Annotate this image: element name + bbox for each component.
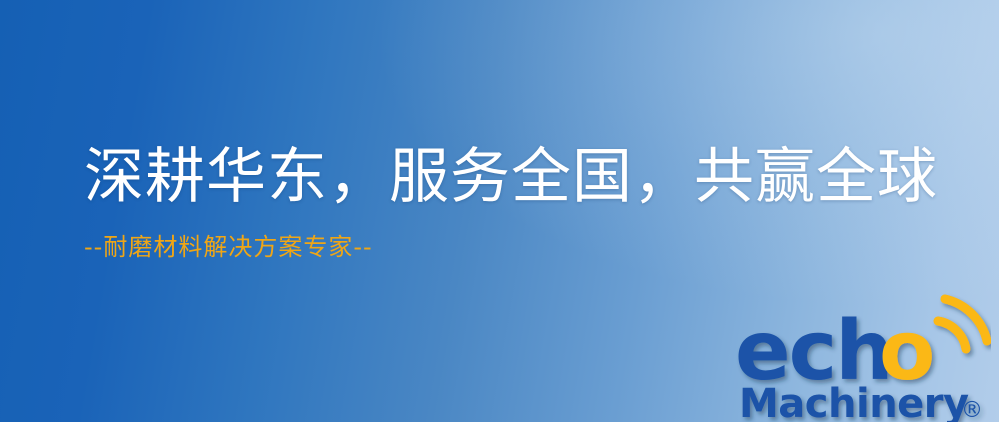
banner-headline: 深耕华东，服务全国，共赢全球 [84, 146, 938, 210]
logo-tagline: Machinery [739, 381, 969, 422]
signal-waves-icon [938, 299, 987, 349]
logo-trademark-icon: ® [961, 398, 983, 422]
banner-subtitle: --耐磨材料解决方案专家-- [84, 234, 938, 260]
echo-machinery-logo[interactable]: ech o Machinery ® [733, 291, 991, 422]
banner-text-block: 深耕华东，服务全国，共赢全球 --耐磨材料解决方案专家-- [84, 146, 938, 260]
promo-banner: 深耕华东，服务全国，共赢全球 --耐磨材料解决方案专家-- ech o Mach [0, 0, 999, 422]
